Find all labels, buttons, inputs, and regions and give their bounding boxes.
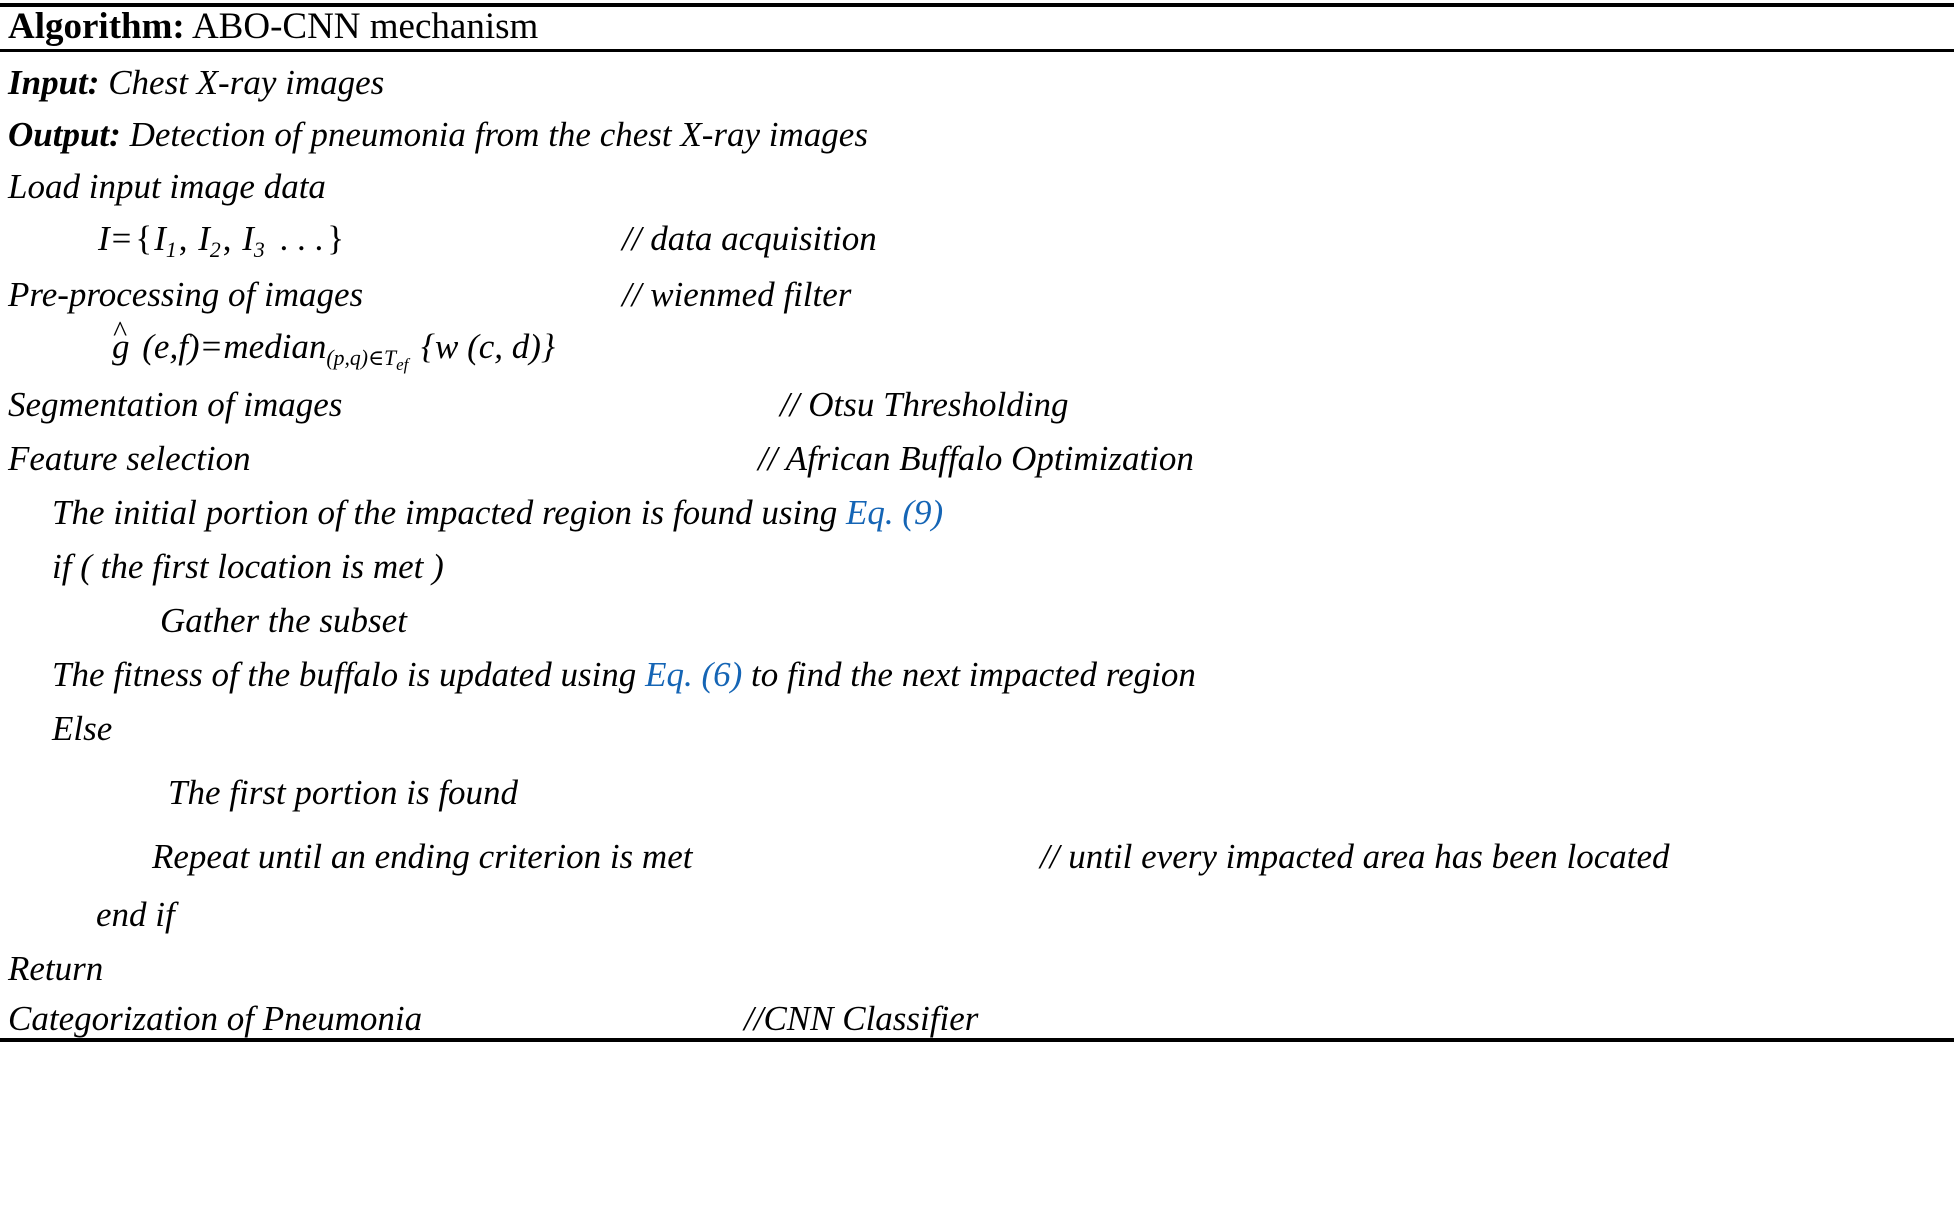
load-input-text: Load input image data [8, 160, 326, 214]
comment-until-located: // until every impacted area has been lo… [1040, 830, 1670, 884]
line-if-condition: if ( the first location is met ) [0, 540, 1954, 594]
eq-i-term-2-sub: 2 [210, 238, 221, 262]
line-repeat: Repeat until an ending criterion is met … [0, 830, 1954, 884]
eq-i-term-1: I [154, 219, 166, 258]
eq-median-g: ^g [112, 320, 130, 374]
segmentation-text: Segmentation of images [8, 378, 342, 432]
repeat-text: Repeat until an ending criterion is met [152, 830, 692, 884]
line-gather-subset: Gather the subset [0, 594, 1954, 648]
return-text: Return [8, 942, 103, 996]
equation-set-i: I={I1, I2, I3 . . .} [98, 212, 346, 266]
eq-i-close-brace: } [325, 219, 346, 258]
comment-african-buffalo-optimization: // African Buffalo Optimization [758, 432, 1194, 486]
eq-median-sub-in: ∈ [368, 346, 384, 370]
eq-i-term-2: I [198, 219, 210, 258]
eq-i-ellipsis: . . . [277, 219, 325, 258]
rule-bottom [0, 1038, 1954, 1042]
eq-i-open-brace: { [133, 219, 154, 258]
eq-median-fn: median [223, 327, 326, 366]
line-else: Else [0, 702, 1954, 756]
line-end-if: end if [0, 888, 1954, 942]
line-preprocessing: Pre-processing of images // wienmed filt… [0, 268, 1954, 322]
feature-selection-text: Feature selection [8, 432, 251, 486]
equation-median: ^g (e,f)=median(p,q)∈Tef {w (c, d)} [112, 320, 555, 374]
input-label: Input: [8, 63, 99, 102]
algorithm-box: Algorithm: ABO-CNN mechanism Input: Ches… [0, 0, 1954, 1046]
line-median-equation: ^g (e,f)=median(p,q)∈Tef {w (c, d)} [0, 320, 1954, 374]
preprocessing-text: Pre-processing of images [8, 268, 363, 322]
eq-median-args: (e,f) [142, 327, 199, 366]
eq-i-lhs: I [98, 219, 110, 258]
eq-i-term-1-sub: 1 [166, 238, 177, 262]
eq-median-sub-t-sub: ef [396, 355, 408, 374]
line-first-portion-found: The first portion is found [0, 766, 1954, 820]
end-if-text: end if [96, 888, 175, 942]
fitness-text-before: The fitness of the buffalo is updated us… [52, 655, 645, 694]
comment-wienmed-filter: // wienmed filter [622, 268, 851, 322]
eq-median-sub-t: T [384, 346, 396, 370]
algorithm-body: Input: Chest X-ray images Output: Detect… [0, 52, 1954, 1038]
eq-i-term-3: I [242, 219, 254, 258]
eq-median-equals: = [200, 327, 224, 366]
eq-median-sub-pre: (p,q) [326, 346, 368, 370]
comment-otsu-thresholding: // Otsu Thresholding [780, 378, 1068, 432]
comment-data-acquisition: // data acquisition [622, 212, 877, 266]
if-condition-text: if ( the first location is met ) [52, 540, 444, 594]
initial-portion-text: The initial portion of the impacted regi… [52, 493, 846, 532]
line-input: Input: Chest X-ray images [0, 56, 1954, 110]
line-feature-selection: Feature selection // African Buffalo Opt… [0, 432, 1954, 486]
algorithm-keyword: Algorithm: [8, 5, 185, 49]
line-load-input: Load input image data [0, 160, 1954, 214]
fitness-text-after: to find the next impacted region [742, 655, 1196, 694]
input-text: Chest X-ray images [99, 63, 384, 102]
first-portion-text: The first portion is found [168, 766, 518, 820]
line-segmentation: Segmentation of images // Otsu Threshold… [0, 378, 1954, 432]
algorithm-header: Algorithm: ABO-CNN mechanism [8, 5, 538, 49]
gather-subset-text: Gather the subset [160, 594, 407, 648]
hat-accent: ^ [113, 305, 127, 359]
eq-median-subscript: (p,q)∈Tef [326, 346, 408, 370]
eq-i-term-3-sub: 3 [254, 238, 265, 262]
output-text: Detection of pneumonia from the chest X-… [121, 115, 868, 154]
else-text: Else [52, 702, 112, 756]
eq-median-rhs: {w (c, d)} [421, 327, 555, 366]
eq-6-link[interactable]: Eq. (6) [645, 655, 742, 694]
output-label: Output: [8, 115, 121, 154]
line-fitness-update: The fitness of the buffalo is updated us… [0, 648, 1954, 702]
algorithm-title: ABO-CNN mechanism [185, 5, 539, 49]
eq-i-equals: = [110, 219, 134, 258]
line-set-definition: I={I1, I2, I3 . . .} // data acquisition [0, 212, 1954, 266]
line-initial-portion: The initial portion of the impacted regi… [0, 486, 1954, 540]
line-output: Output: Detection of pneumonia from the … [0, 108, 1954, 162]
line-return: Return [0, 942, 1954, 996]
eq-9-link[interactable]: Eq. (9) [846, 493, 943, 532]
